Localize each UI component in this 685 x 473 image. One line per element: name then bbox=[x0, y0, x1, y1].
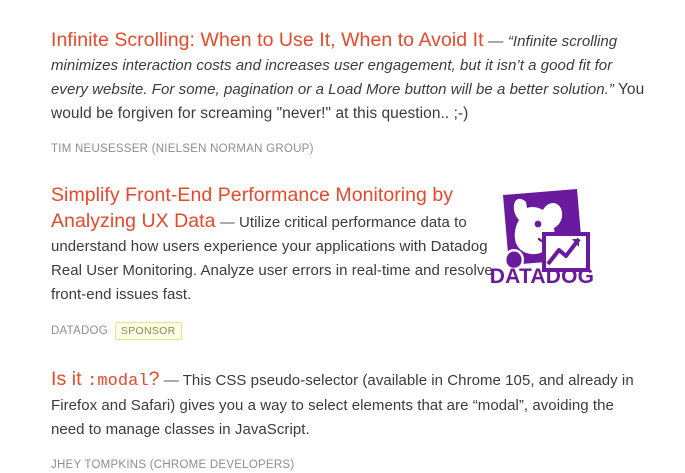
entry-title-prefix: Is it bbox=[51, 368, 87, 390]
entry-byline: Datadog bbox=[51, 323, 108, 339]
feed-entry-sponsored: Simplify Front-End Performance Monitorin… bbox=[51, 183, 645, 340]
news-feed-list: Infinite Scrolling: When to Use It, When… bbox=[0, 0, 685, 427]
entry-byline-row: Datadog Sponsor bbox=[51, 322, 506, 340]
entry-byline: Jhey Tompkins (Chrome Developers) bbox=[51, 457, 645, 473]
entry-dash: — bbox=[220, 214, 235, 231]
entry-byline: Tim Neusesser (Nielsen Norman Group) bbox=[51, 141, 645, 157]
entry-title-suffix: ? bbox=[149, 368, 160, 390]
entry-summary: Infinite Scrolling: When to Use It, When… bbox=[51, 28, 645, 126]
entry-title-link[interactable]: Is it :modal? bbox=[51, 368, 159, 390]
datadog-wordmark: DATADOG bbox=[490, 265, 594, 287]
entry-text-column: Simplify Front-End Performance Monitorin… bbox=[51, 183, 506, 340]
entry-title-link[interactable]: Infinite Scrolling: When to Use It, When… bbox=[51, 29, 484, 51]
feed-entry: Infinite Scrolling: When to Use It, When… bbox=[51, 28, 645, 158]
entry-dash: — bbox=[488, 33, 504, 50]
feed-entry: Is it :modal? — This CSS pseudo-selector… bbox=[51, 367, 645, 473]
entry-title-code: :modal bbox=[87, 372, 149, 391]
entry-dash: — bbox=[164, 372, 179, 389]
entry-summary: Is it :modal? — This CSS pseudo-selector… bbox=[51, 367, 645, 442]
entry-summary: Simplify Front-End Performance Monitorin… bbox=[51, 183, 506, 307]
sponsor-badge: Sponsor bbox=[115, 322, 182, 340]
datadog-logo[interactable]: DATADOG bbox=[481, 187, 603, 287]
